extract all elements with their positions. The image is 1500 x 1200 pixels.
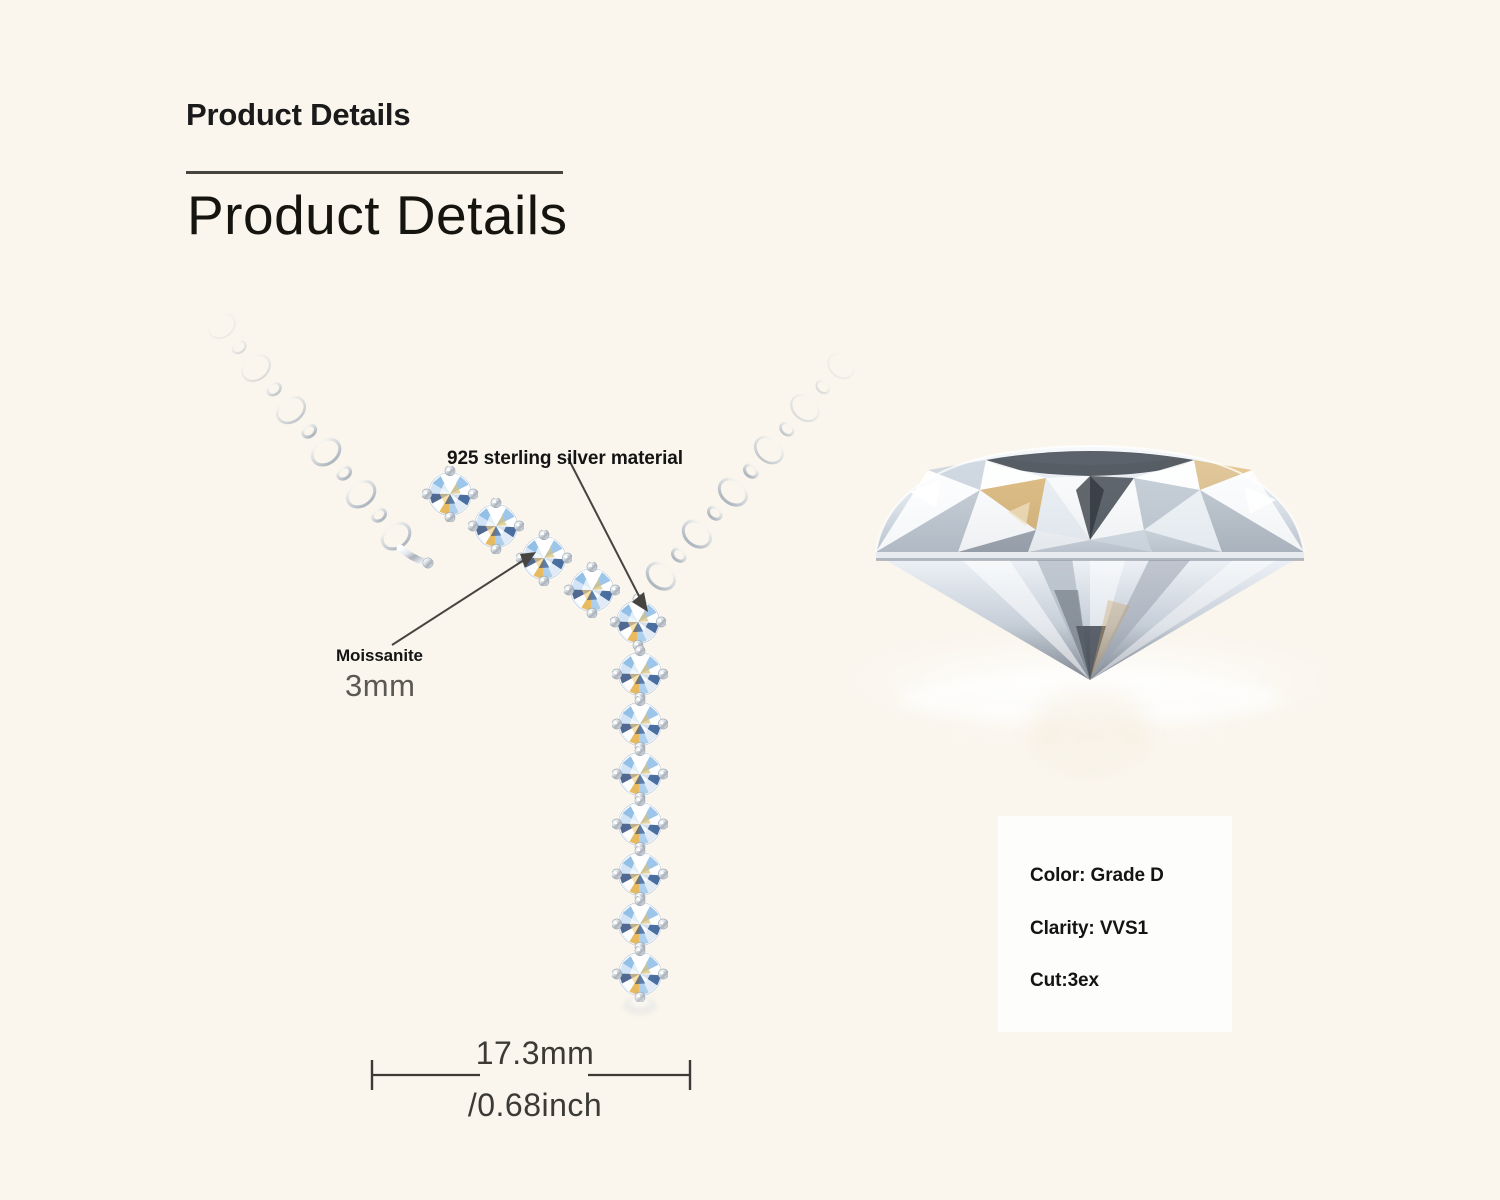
page-eyebrow-title: Product Details (186, 95, 410, 135)
diamond-spec-panel: Color: Grade D Clarity: VVS1 Cut:3ex (998, 816, 1232, 1032)
page-title: Product Details (187, 183, 567, 247)
spec-color: Color: Grade D (1030, 865, 1164, 887)
annotation-label-stone-size: 3mm (345, 668, 415, 704)
header-divider (186, 171, 563, 174)
diamond-crown (876, 446, 1304, 552)
dimension-value-inch: /0.68inch (360, 1087, 710, 1124)
annotation-label-silver-material: 925 sterling silver material (447, 448, 683, 470)
stone-cluster-diagonal (422, 466, 667, 651)
dimension-callout: 17.3mm /0.68inch (360, 1035, 710, 1145)
spec-cut: Cut:3ex (1030, 970, 1099, 992)
drop-reflection (623, 997, 657, 1015)
necklace-product-image (200, 330, 820, 1060)
product-details-page: Product Details Product Details (0, 0, 1500, 1200)
chain-left (204, 309, 415, 555)
annotation-label-moissanite: Moissanite (336, 646, 423, 666)
necklace-illustration (200, 330, 820, 1060)
chain-right (642, 349, 859, 595)
stone-drop-strand (612, 646, 669, 1003)
dimension-line (360, 1057, 710, 1091)
spec-clarity: Clarity: VVS1 (1030, 918, 1148, 940)
chain-clasp (400, 548, 433, 568)
diamond-illustration (840, 430, 1340, 810)
moissanite-arrow (392, 552, 536, 645)
diamond-product-image (840, 430, 1340, 810)
